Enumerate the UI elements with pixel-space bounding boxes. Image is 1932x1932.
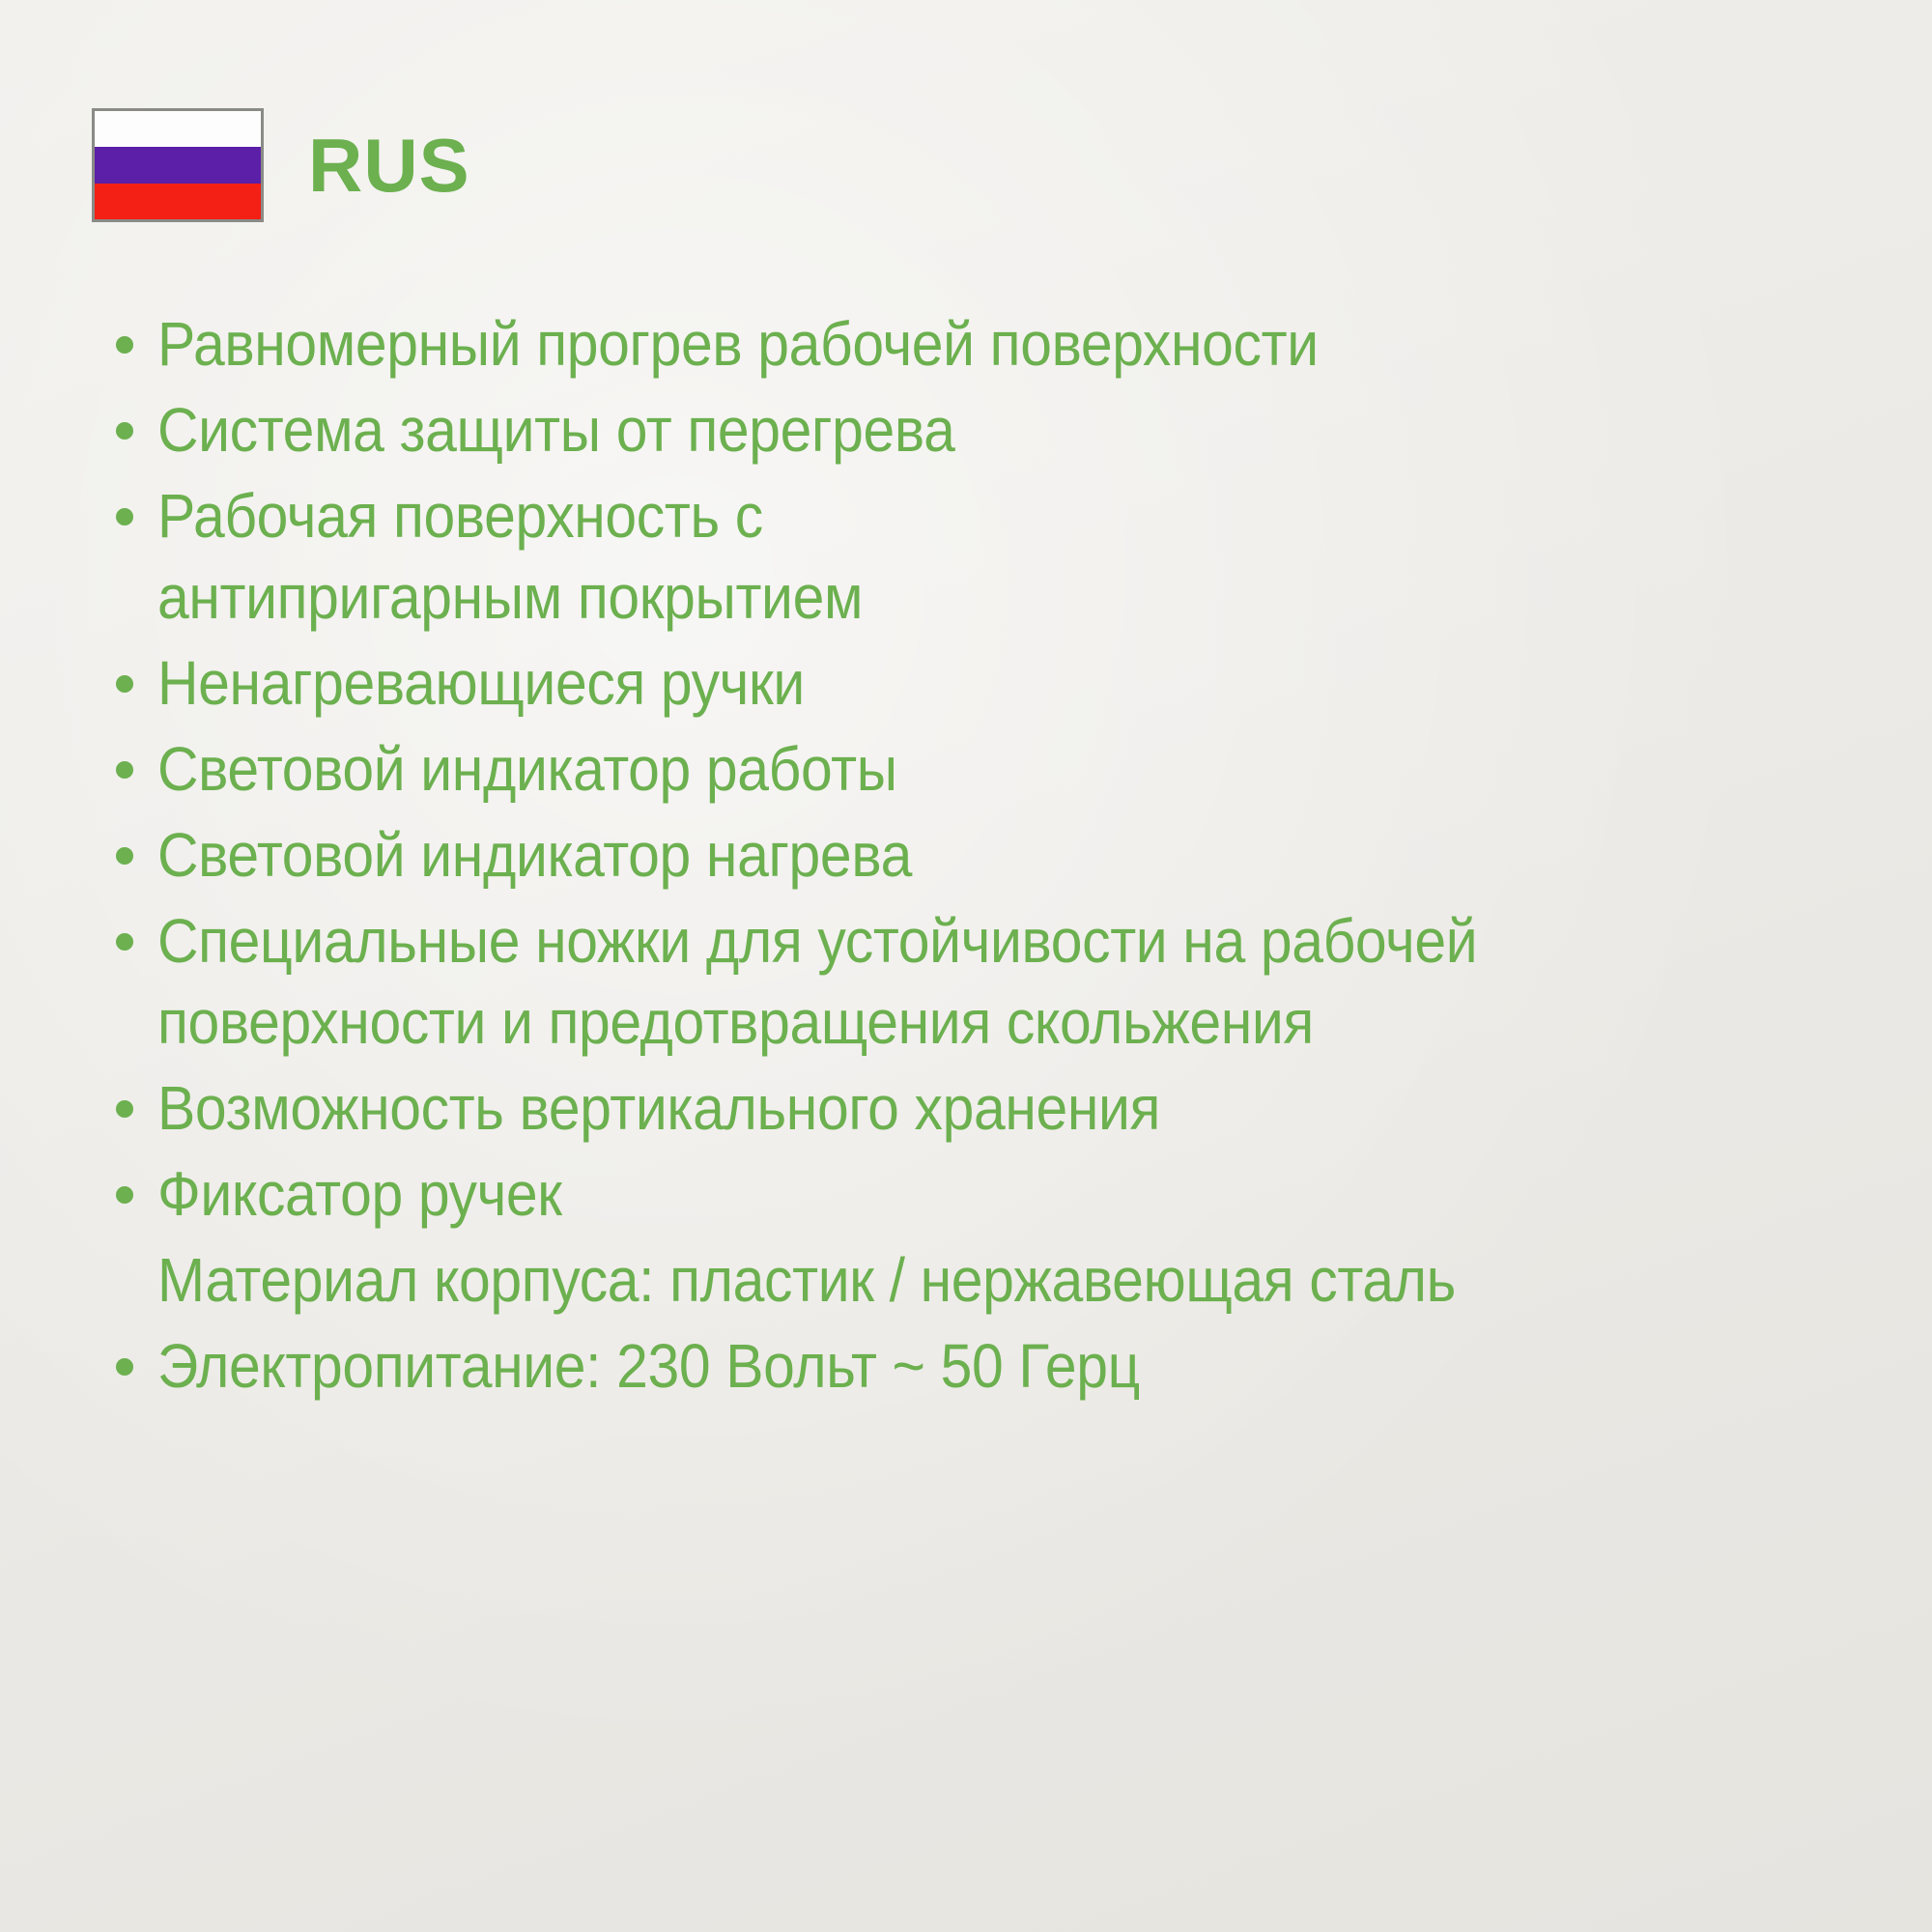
feature-text: Световой индикатор работы	[157, 729, 1723, 810]
feature-text: Фиксатор ручек	[157, 1154, 1723, 1235]
feature-text: Ненагревающиеся ручки	[157, 643, 1723, 724]
feature-text: Рабочая поверхность с антипригарным покр…	[157, 476, 1723, 637]
feature-text: Специальные ножки для устойчивости на ра…	[157, 901, 1723, 1062]
flag-stripe-blue	[95, 147, 261, 183]
flag-stripe-red	[95, 184, 261, 219]
language-header: RUS	[92, 108, 470, 222]
feature-text: Материал корпуса: пластик / нержавеющая …	[157, 1240, 1723, 1321]
bullet-slot	[92, 476, 157, 526]
bullet-slot	[92, 815, 157, 865]
feature-list: Равномерный прогрев рабочей поверхностиС…	[92, 304, 1860, 1412]
bullet-slot	[92, 1154, 157, 1204]
bullet-slot	[92, 390, 157, 440]
product-feature-panel: RUS Равномерный прогрев рабочей поверхно…	[0, 0, 1932, 1932]
bullet-dot-icon	[116, 508, 133, 526]
bullet-dot-icon	[116, 933, 133, 951]
feature-list-item: Система защиты от перегрева	[92, 390, 1860, 470]
bullet-dot-icon	[116, 1100, 133, 1118]
bullet-dot-icon	[116, 1186, 133, 1204]
bullet-slot	[92, 1240, 157, 1290]
flag-stripe-white	[95, 111, 261, 147]
bullet-dot-icon	[116, 422, 133, 440]
feature-text: Система защиты от перегрева	[157, 390, 1723, 470]
feature-text: Световой индикатор нагрева	[157, 815, 1723, 895]
language-code-label: RUS	[308, 128, 470, 203]
bullet-dot-icon	[116, 675, 133, 693]
feature-text: Возможность вертикального хранения	[157, 1068, 1723, 1149]
bullet-slot	[92, 1326, 157, 1376]
feature-list-item: Световой индикатор нагрева	[92, 815, 1860, 895]
feature-list-item: Электропитание: 230 Вольт ~ 50 Герц	[92, 1326, 1860, 1406]
feature-list-item: Материал корпуса: пластик / нержавеющая …	[92, 1240, 1860, 1321]
bullet-dot-icon	[116, 336, 133, 354]
bullet-dot-icon	[116, 761, 133, 779]
bullet-slot	[92, 643, 157, 693]
feature-list-item: Фиксатор ручек	[92, 1154, 1860, 1235]
feature-list-item: Специальные ножки для устойчивости на ра…	[92, 901, 1860, 1062]
bullet-dot-icon	[116, 847, 133, 865]
bullet-slot	[92, 729, 157, 779]
feature-list-item: Равномерный прогрев рабочей поверхности	[92, 304, 1860, 384]
bullet-slot	[92, 304, 157, 354]
bullet-slot	[92, 1068, 157, 1118]
feature-list-item: Рабочая поверхность с антипригарным покр…	[92, 476, 1860, 637]
feature-text: Электропитание: 230 Вольт ~ 50 Герц	[157, 1326, 1723, 1406]
feature-list-item: Ненагревающиеся ручки	[92, 643, 1860, 724]
bullet-dot-icon	[116, 1358, 133, 1376]
russian-flag-icon	[92, 108, 264, 222]
feature-list-item: Световой индикатор работы	[92, 729, 1860, 810]
bullet-dot-icon	[116, 1272, 133, 1290]
feature-list-item: Возможность вертикального хранения	[92, 1068, 1860, 1149]
bullet-slot	[92, 901, 157, 951]
feature-text: Равномерный прогрев рабочей поверхности	[157, 304, 1723, 384]
